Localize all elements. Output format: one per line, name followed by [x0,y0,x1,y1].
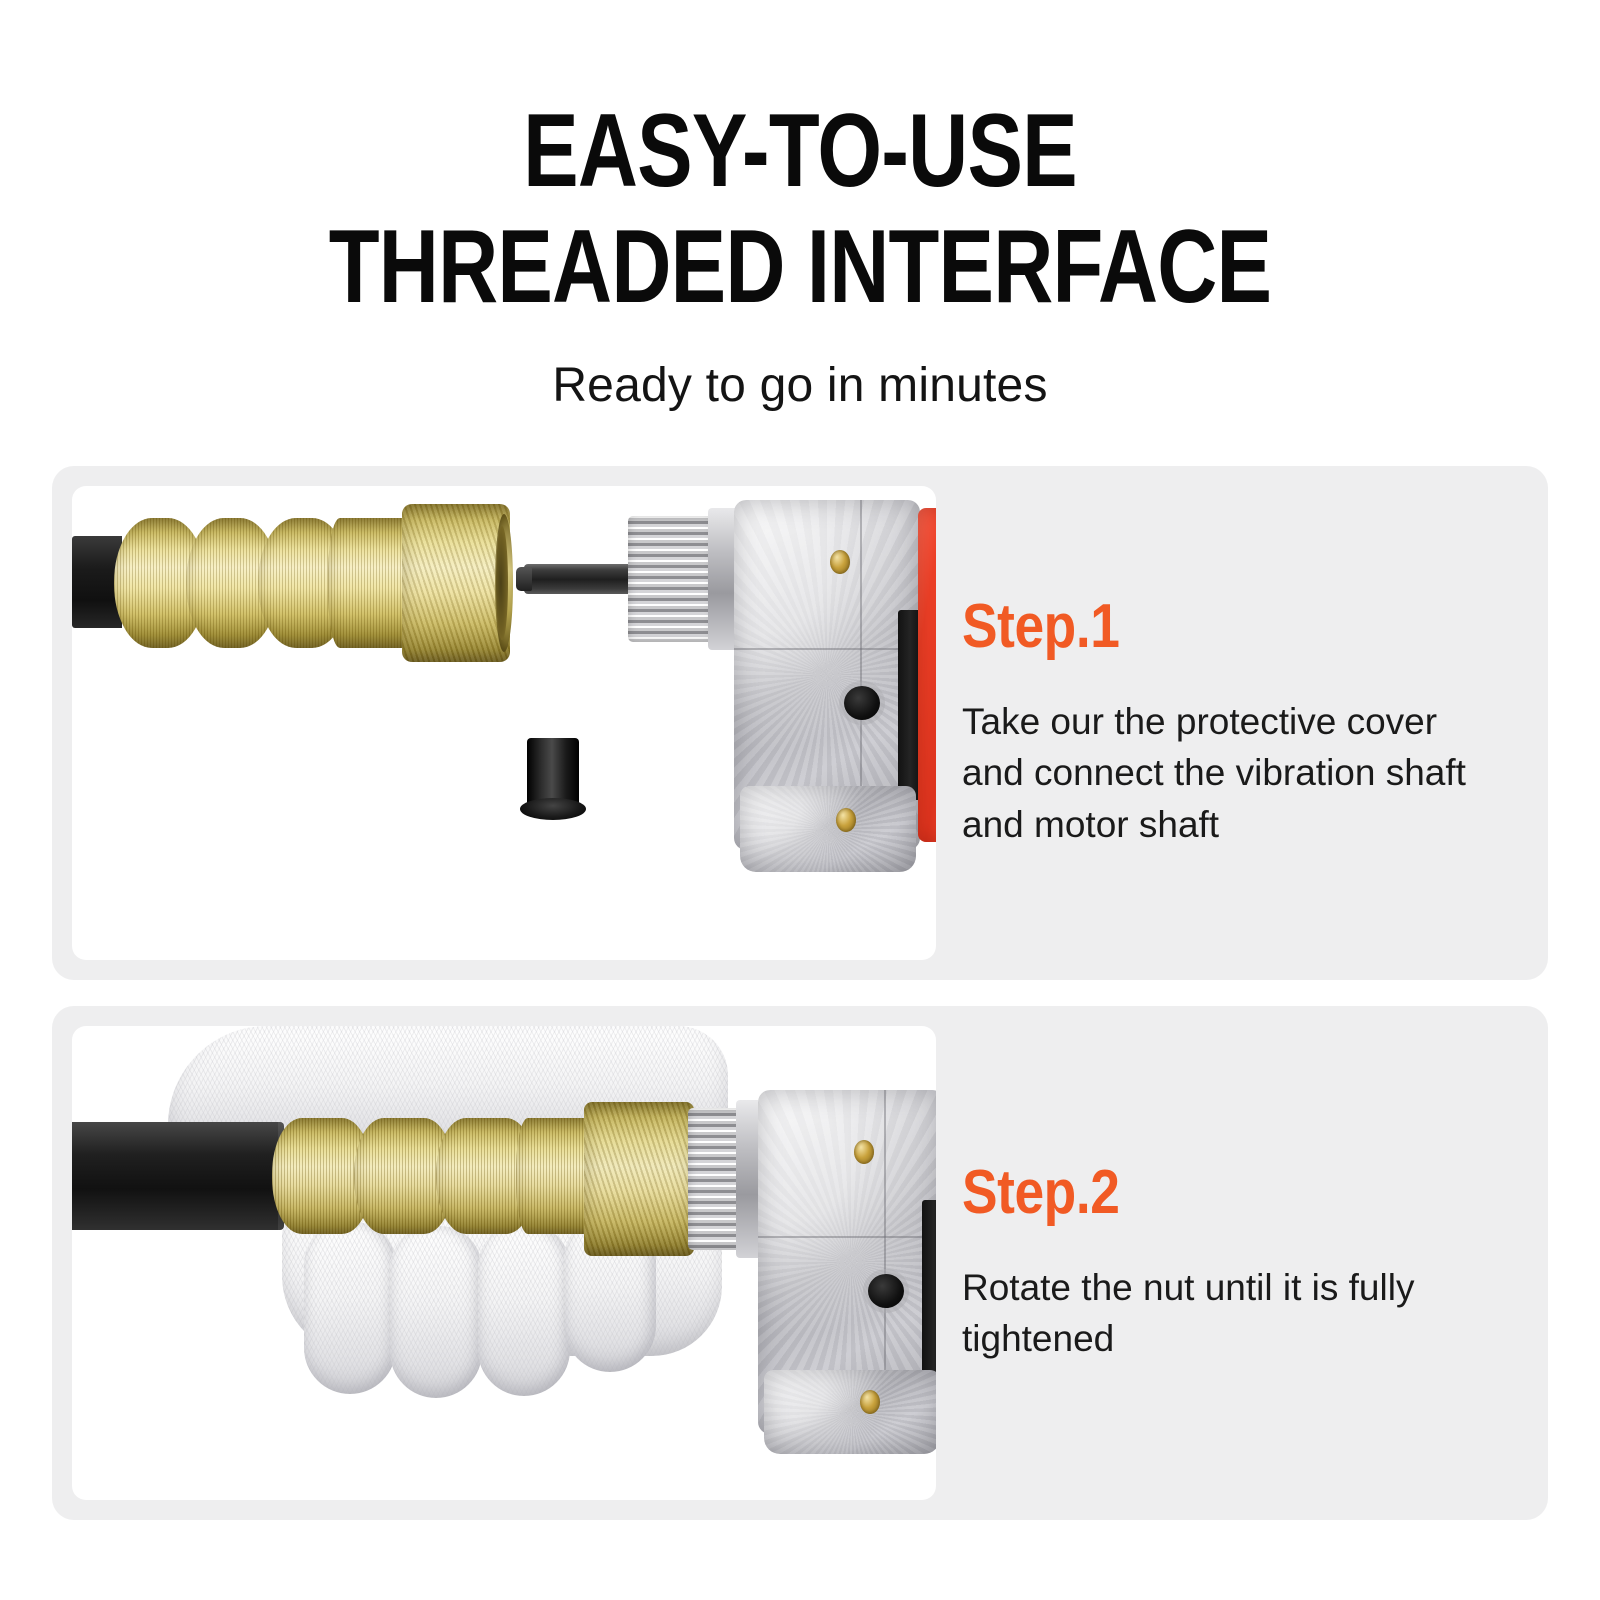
housing-seam [758,1236,936,1238]
motor-housing-base [740,786,916,872]
step-1-label: Step.1 [962,596,1444,658]
protective-cover-cap [520,738,586,822]
brass-coupling-nut [584,1102,694,1256]
rubber-hose [72,1122,284,1230]
threaded-collar [628,516,714,642]
step-1-photo [72,486,936,960]
step-2-description: Rotate the nut until it is fully tighten… [962,1262,1507,1364]
cover-cap-body [527,738,579,804]
motor-drive-shaft [524,564,642,594]
step-panel-2: Step.2 Rotate the nut until it is fully … [52,1006,1548,1520]
brass-screw [836,808,856,832]
brass-vibrator-head [272,1118,602,1234]
glove-finger [304,1222,396,1394]
brass-vibrator-head [114,518,414,648]
page-title-line-2: THREADED INTERFACE [160,212,1440,322]
page-title-line-1: EASY-TO-USE [160,96,1440,206]
red-motor-cap [918,508,936,842]
page-subtitle: Ready to go in minutes [0,358,1600,413]
brass-coupling-nut [402,504,510,662]
brass-screw [830,550,850,574]
cable-port [868,1274,904,1308]
motor-housing-base [764,1370,936,1454]
black-insert-strip [922,1200,936,1386]
step-1-description: Take our the protective cover and connec… [962,696,1507,849]
step-1-text-column: Step.1 Take our the protective cover and… [962,466,1522,980]
step-1-product-illustration [72,486,936,960]
housing-seam [734,648,920,650]
infographic-page: EASY-TO-USE THREADED INTERFACE Ready to … [0,0,1600,1600]
step-2-label: Step.2 [962,1162,1444,1224]
glove-finger [478,1224,570,1396]
brass-screw [860,1390,880,1414]
page-header: EASY-TO-USE THREADED INTERFACE Ready to … [0,96,1600,413]
step-2-product-illustration [72,1026,936,1500]
cable-port [844,686,880,720]
glove-finger [390,1226,482,1398]
step-2-text-column: Step.2 Rotate the nut until it is fully … [962,1006,1522,1520]
step-panel-1: Step.1 Take our the protective cover and… [52,466,1548,980]
cover-cap-flange [520,798,586,820]
step-2-photo [72,1026,936,1500]
brass-screw [854,1140,874,1164]
